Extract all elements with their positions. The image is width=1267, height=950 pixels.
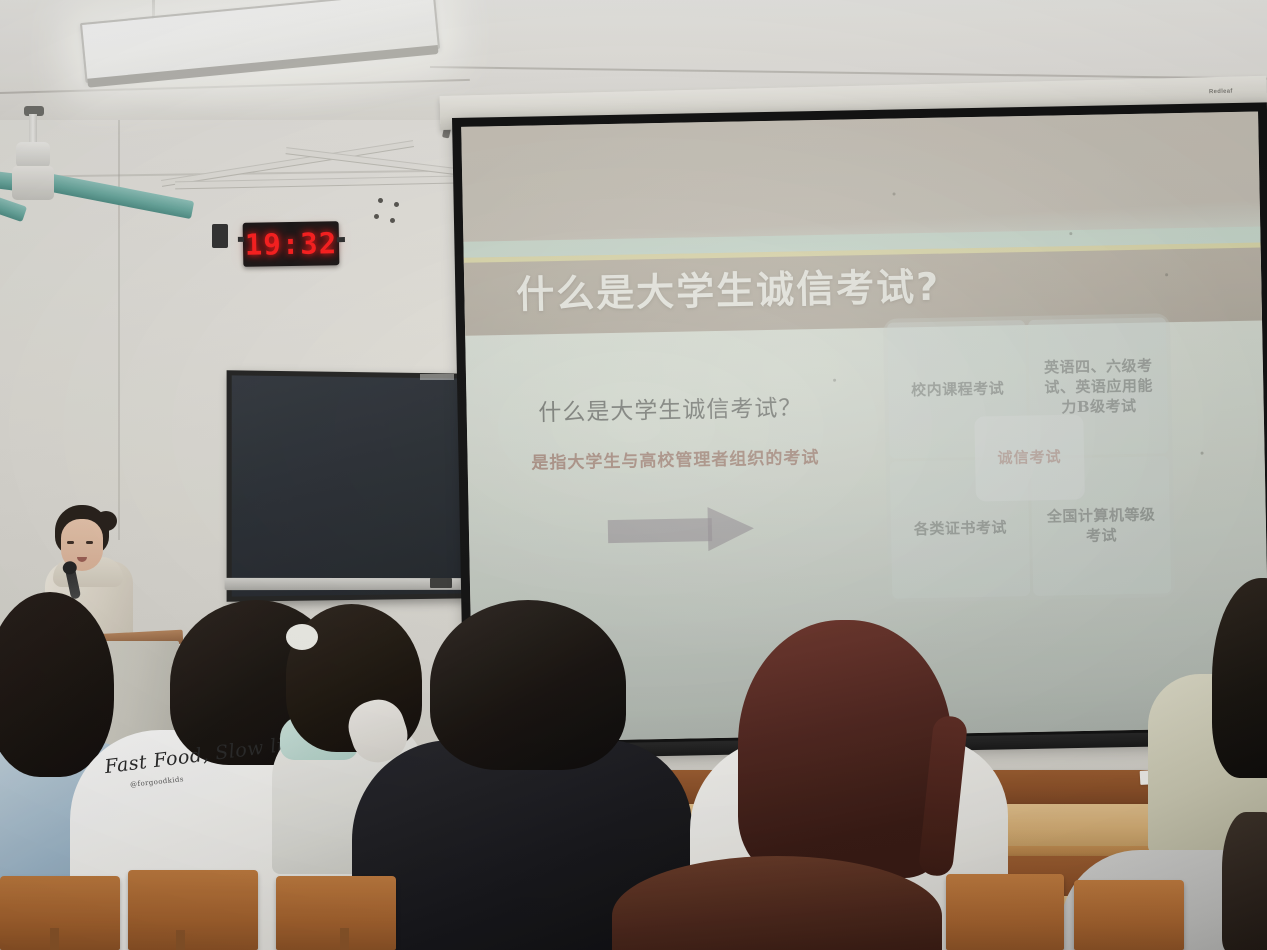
blackboard-chalk-tray	[225, 578, 464, 590]
chair-leg	[50, 928, 59, 950]
classroom-photo: 19:32 Redleaf 什么是大学生诚信考试? 什么是大学生诚信考试？ 是指…	[0, 0, 1267, 950]
blackboard-brand-logo	[420, 374, 454, 380]
audience-member	[1222, 812, 1267, 950]
diagram-center-label: 诚信考试	[974, 414, 1085, 501]
student-hair	[1212, 578, 1267, 778]
chair-back	[128, 870, 258, 950]
electrical-junction-box	[212, 224, 228, 248]
chair-leg	[176, 930, 185, 950]
slide-subtitle-body: 是指大学生与高校管理者组织的考试	[531, 443, 819, 474]
slide-subtitle-heading: 什么是大学生诚信考试？	[538, 388, 803, 427]
slide-right-arrow-icon	[608, 506, 759, 553]
student-hair-long	[738, 620, 952, 878]
student-hair	[1222, 812, 1267, 950]
clock-time-display: 19:32	[245, 226, 338, 262]
presenter-eye-right	[86, 541, 93, 544]
chair-back	[1074, 880, 1184, 950]
chair-leg	[340, 928, 349, 950]
chair-back	[0, 876, 120, 950]
slide-title: 什么是大学生诚信考试?	[516, 256, 941, 319]
wall-seam-vertical	[118, 120, 120, 540]
presenter-eye-left	[67, 541, 74, 544]
student-hair	[430, 600, 626, 770]
blackboard-tray-label	[430, 578, 452, 588]
fan-motor-housing	[16, 142, 50, 168]
digital-wall-clock: 19:32	[243, 221, 340, 267]
student-hair-long	[612, 856, 942, 950]
fan-motor-housing-lower	[12, 166, 54, 200]
fan-downrod	[29, 114, 37, 144]
wall-mounting-holes	[372, 196, 412, 228]
audience-member	[612, 856, 942, 950]
blackboard	[227, 370, 470, 602]
audience-member	[1148, 578, 1267, 848]
blackboard-surface	[232, 375, 465, 596]
hair-scrunchie	[286, 624, 318, 650]
screen-brand-logo: Redleaf	[1209, 89, 1233, 96]
chair-back	[946, 874, 1064, 950]
slide-quadrant-diagram: 校内课程考试 英语四、六级考试、英语应用能力B级考试 各类证书考试 全国计算机等…	[883, 313, 1175, 602]
chair-back	[276, 876, 396, 950]
